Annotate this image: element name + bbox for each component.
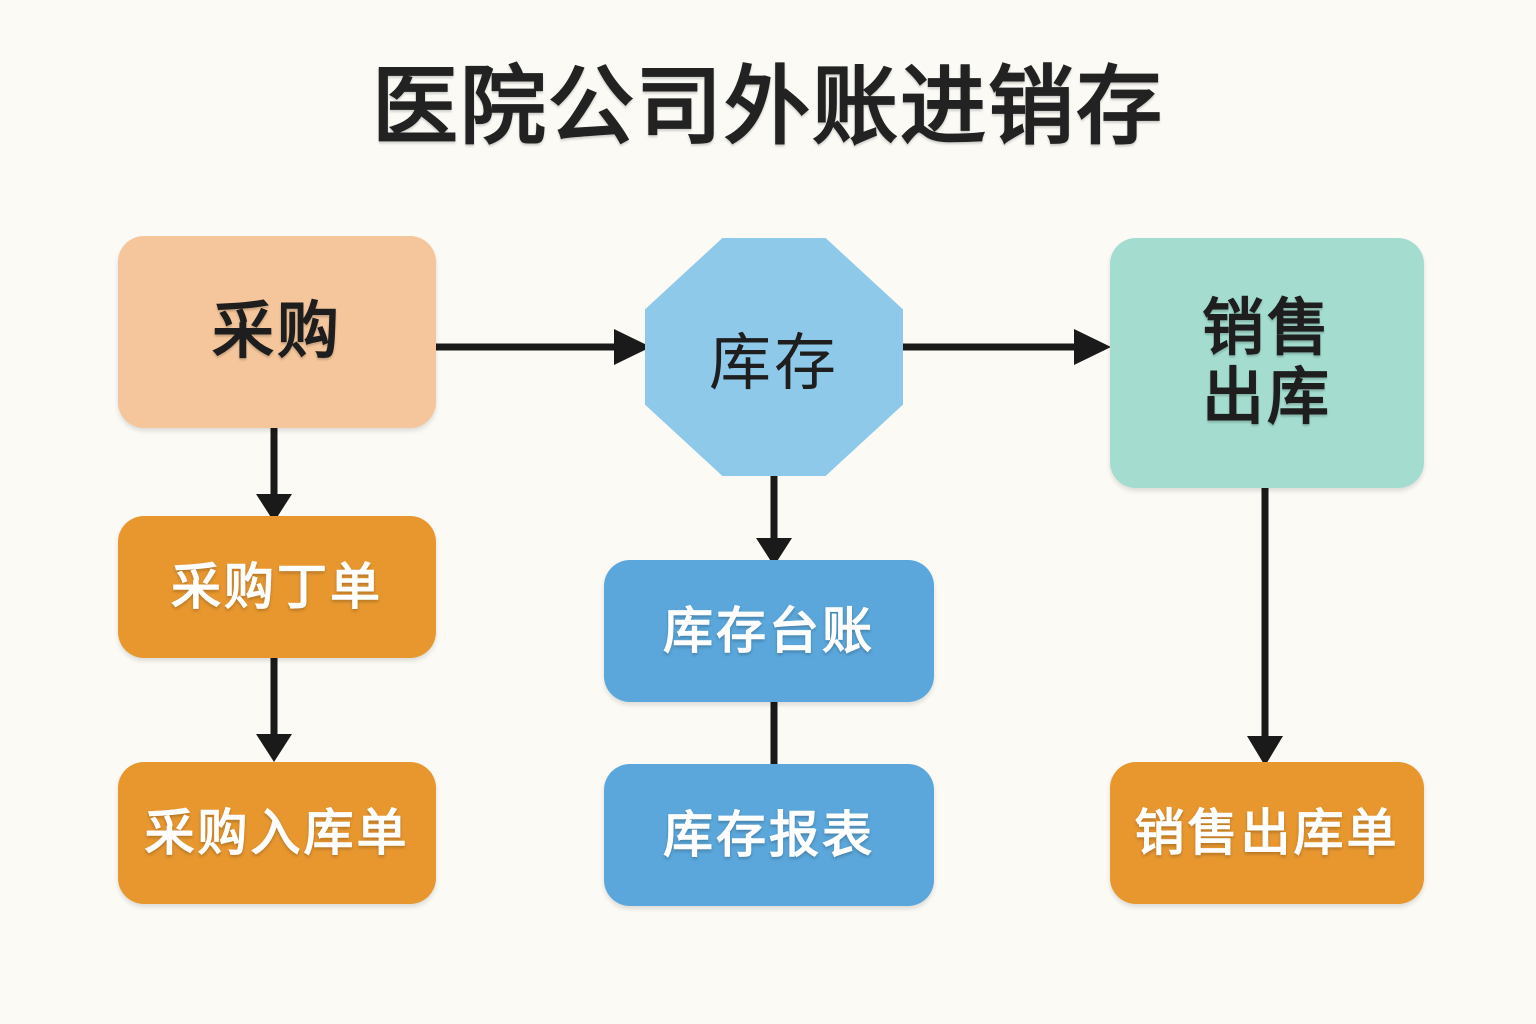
- stage-node-inventory[interactable]: 库存: [645, 238, 903, 476]
- stage-node-procurement-label: 采购: [118, 297, 436, 366]
- stage-node-inventory-label: 库存: [709, 312, 839, 402]
- connector-sales-to-outbound-order: [1241, 480, 1289, 768]
- connector-purchase-order-to-receipt: [250, 658, 298, 764]
- document-node-inventory-report[interactable]: 库存报表: [604, 764, 934, 906]
- document-node-sales-outbound-order[interactable]: 销售出库单: [1110, 762, 1424, 904]
- connector-procurement-to-inventory: [430, 325, 655, 370]
- document-node-inventory-ledger[interactable]: 库存台账: [604, 560, 934, 702]
- flowchart-canvas: 医院公司外账进销存 采购 采购丁单 采购入库单: [0, 0, 1536, 1024]
- document-node-sales-outbound-order-label: 销售出库单: [1110, 805, 1424, 861]
- stage-node-procurement[interactable]: 采购: [118, 236, 436, 428]
- document-node-purchase-receipt-label: 采购入库单: [118, 805, 436, 861]
- stage-node-sales-outbound-label: 销售 出库: [1110, 294, 1424, 433]
- connector-procurement-to-purchase-order: [250, 424, 298, 524]
- document-node-purchase-order-label: 采购丁单: [118, 559, 436, 615]
- connector-ledger-to-report: [750, 700, 798, 770]
- page-title: 医院公司外账进销存: [0, 58, 1536, 157]
- stage-node-sales-outbound[interactable]: 销售 出库: [1110, 238, 1424, 488]
- document-node-inventory-report-label: 库存报表: [604, 807, 934, 863]
- connector-inventory-to-sales: [900, 325, 1115, 370]
- connector-inventory-to-ledger: [750, 468, 798, 568]
- document-node-inventory-ledger-label: 库存台账: [604, 603, 934, 659]
- document-node-purchase-receipt[interactable]: 采购入库单: [118, 762, 436, 904]
- document-node-purchase-order[interactable]: 采购丁单: [118, 516, 436, 658]
